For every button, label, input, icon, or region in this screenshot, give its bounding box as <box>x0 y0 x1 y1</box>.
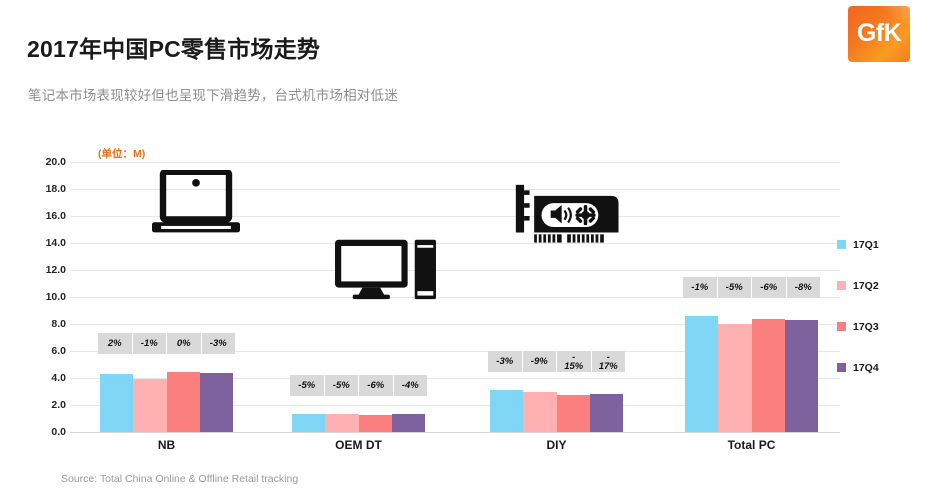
growth-label: -5% <box>325 375 360 396</box>
x-axis-label-nb: NB <box>100 438 233 452</box>
growth-label: -17% <box>592 351 626 372</box>
bar-17q1-nb[interactable] <box>100 374 133 432</box>
growth-label: -3% <box>202 333 236 354</box>
y-axis-tick: 14.0 <box>6 237 66 249</box>
bar-17q2-total-pc[interactable] <box>718 324 751 432</box>
y-axis-tick: 20.0 <box>6 156 66 168</box>
legend-label: 17Q2 <box>853 280 879 292</box>
growth-label: -1% <box>133 333 168 354</box>
chart-legend: 17Q117Q217Q317Q4 <box>837 238 917 402</box>
y-axis-tick: 18.0 <box>6 183 66 195</box>
bar-group-total-pc: -1%-5%-6%-8%Total PC <box>685 162 818 432</box>
bar-17q2-oem-dt[interactable] <box>325 414 358 432</box>
bar-17q4-total-pc[interactable] <box>785 320 818 432</box>
legend-swatch <box>837 240 846 249</box>
legend-swatch <box>837 322 846 331</box>
bar-chart: (单位：M) 0.02.04.06.08.010.012.014.016.018… <box>0 140 927 460</box>
laptop-icon <box>150 170 242 236</box>
logo-text: GfK <box>848 19 910 48</box>
bar-17q4-nb[interactable] <box>200 373 233 432</box>
bar-17q1-oem-dt[interactable] <box>292 414 325 432</box>
growth-label-row: -1%-5%-6%-8% <box>683 277 820 298</box>
bar-17q3-nb[interactable] <box>167 372 200 432</box>
bar-17q3-oem-dt[interactable] <box>359 415 392 432</box>
graphics-card-icon <box>510 183 628 249</box>
bar-17q3-diy[interactable] <box>557 395 590 432</box>
growth-label: -1% <box>683 277 718 298</box>
gfk-logo: GfK <box>848 6 910 62</box>
growth-label: -6% <box>752 277 787 298</box>
source-note: Source: Total China Online & Offline Ret… <box>61 473 298 485</box>
x-axis-label-diy: DIY <box>490 438 623 452</box>
growth-label: -6% <box>359 375 394 396</box>
legend-item-17q1[interactable]: 17Q1 <box>837 238 917 251</box>
growth-label: -15% <box>557 351 592 372</box>
growth-label: -4% <box>394 375 428 396</box>
growth-label: 0% <box>167 333 202 354</box>
y-axis-tick: 10.0 <box>6 291 66 303</box>
slide-root: 2017年中国PC零售市场走势 笔记本市场表现较好但也呈现下滑趋势，台式机市场相… <box>0 0 927 497</box>
y-axis-tick: 16.0 <box>6 210 66 222</box>
growth-label: -8% <box>787 277 821 298</box>
y-axis-tick: 0.0 <box>6 426 66 438</box>
legend-item-17q4[interactable]: 17Q4 <box>837 361 917 374</box>
growth-label-row: -3%-9%-15%-17% <box>488 351 625 372</box>
growth-label-row: -5%-5%-6%-4% <box>290 375 427 396</box>
bar-17q2-diy[interactable] <box>523 392 556 432</box>
bar-17q1-diy[interactable] <box>490 390 523 432</box>
growth-label: -9% <box>523 351 558 372</box>
growth-label: -5% <box>718 277 753 298</box>
legend-item-17q2[interactable]: 17Q2 <box>837 279 917 292</box>
y-axis-tick: 4.0 <box>6 372 66 384</box>
bar-17q2-nb[interactable] <box>133 379 166 432</box>
legend-label: 17Q3 <box>853 321 879 333</box>
y-axis-tick: 12.0 <box>6 264 66 276</box>
y-axis-tick: 8.0 <box>6 318 66 330</box>
unit-label: (单位：M) <box>98 146 145 161</box>
growth-label: -5% <box>290 375 325 396</box>
bar-17q3-total-pc[interactable] <box>752 319 785 432</box>
x-axis-label-oem-dt: OEM DT <box>292 438 425 452</box>
page-title: 2017年中国PC零售市场走势 <box>27 30 320 64</box>
growth-label: -3% <box>488 351 523 372</box>
bar-17q4-diy[interactable] <box>590 394 623 432</box>
legend-label: 17Q1 <box>853 239 879 251</box>
legend-swatch <box>837 363 846 372</box>
legend-label: 17Q4 <box>853 362 879 374</box>
x-axis-line <box>70 432 840 433</box>
bar-17q4-oem-dt[interactable] <box>392 414 425 432</box>
page-subtitle: 笔记本市场表现较好但也呈现下滑趋势，台式机市场相对低迷 <box>28 84 398 104</box>
growth-label: 2% <box>98 333 133 354</box>
y-axis-tick: 6.0 <box>6 345 66 357</box>
desktop-monitor-tower-icon <box>333 238 438 300</box>
legend-item-17q3[interactable]: 17Q3 <box>837 320 917 333</box>
growth-label-row: 2%-1%0%-3% <box>98 333 235 354</box>
bar-17q1-total-pc[interactable] <box>685 316 718 432</box>
legend-swatch <box>837 281 846 290</box>
x-axis-label-total-pc: Total PC <box>685 438 818 452</box>
y-axis-tick: 2.0 <box>6 399 66 411</box>
